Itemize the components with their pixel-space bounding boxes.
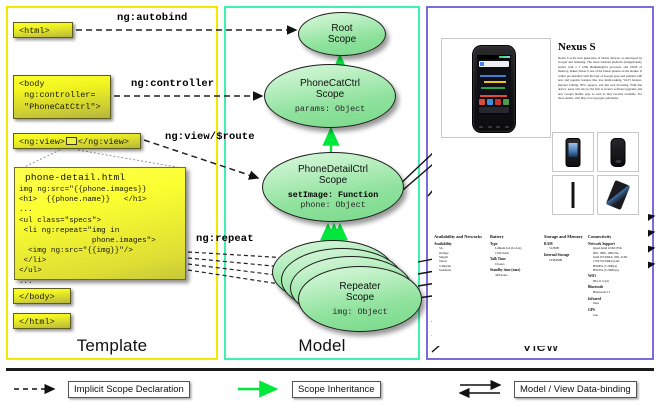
- legend-item-implicit-scope: Implicit Scope Declaration: [10, 378, 190, 400]
- spec-value: 802.11 b/g/n: [588, 279, 648, 283]
- app-icon-4: [503, 99, 509, 105]
- thumbnail-image-icon: [606, 180, 631, 210]
- label-ng-view-route: ng:view/$route: [165, 131, 255, 143]
- phone-wallpaper-line-2: [484, 81, 506, 83]
- scope-repeater-prop-img: img: Object: [332, 307, 387, 317]
- phone-dock: [479, 107, 509, 113]
- diagram-canvas: Template Model View: [0, 0, 660, 420]
- thumbnail-image-icon: [611, 138, 626, 167]
- legend-item-scope-inheritance: Scope Inheritance: [234, 378, 381, 400]
- thumbnail-image-icon: [572, 182, 575, 208]
- spec-heading: Battery: [490, 234, 538, 240]
- spec-column-storage: Storage and Memory RAM 512MB Internal St…: [544, 234, 584, 262]
- search-icon: [480, 62, 484, 66]
- panel-title-model: Model: [226, 336, 418, 356]
- tag-ngview-close: </ng:view>: [78, 137, 129, 147]
- template-note-callout: phone-detail.html img ng:src="{{phone.im…: [14, 167, 186, 280]
- scope-phonecatctrl: PhoneCatCtrl Scope params: Object: [264, 64, 396, 128]
- spec-heading: Availability and Networks: [434, 234, 482, 240]
- spec-value: Bluetooth 2.1: [588, 290, 648, 294]
- spec-value: 6 hours: [490, 262, 538, 266]
- scope-root: Root Scope: [298, 12, 386, 56]
- dashed-arrow-icon: [10, 379, 62, 399]
- thumbnail-phone-side[interactable]: [552, 175, 594, 215]
- phone-device-image: [472, 45, 516, 133]
- scope-repeater-stack: Repeater Scope img: Object: [272, 240, 418, 336]
- spec-value: 512MB: [544, 246, 584, 250]
- spec-column-availability: Availability and Networks Availability 5…: [434, 234, 482, 272]
- note-title: phone-detail.html: [15, 168, 185, 185]
- phone-wallpaper-line-1: [480, 75, 506, 77]
- tag-body-close: </body>: [13, 288, 71, 304]
- thumbnail-grid: [552, 132, 644, 218]
- legend-item-data-binding: Model / View Data-binding: [456, 378, 637, 400]
- scope-repeater-line1: Repeater: [339, 281, 380, 292]
- scope-cat-prop-params: params: Object: [295, 104, 365, 114]
- phone-statusbar: [477, 55, 511, 59]
- phone-wallpaper-line-4: [480, 95, 507, 97]
- phone-button-home: [505, 126, 509, 128]
- spec-column-battery: Battery Type Lithium Ion (Li-Ion) 1500 m…: [490, 234, 538, 277]
- spec-table: Availability and Networks Availability 5…: [432, 234, 648, 326]
- double-arrow-icon: [456, 379, 508, 399]
- legend-divider: [6, 368, 654, 371]
- scope-repeater-line2: Scope: [346, 292, 374, 303]
- scope-phonedetailctrl: PhoneDetailCtrl Scope setImage: Function…: [262, 152, 404, 222]
- app-icon-2: [487, 99, 493, 105]
- scope-cat-line1: PhoneCatCtrl: [300, 78, 360, 89]
- phone-button-search: [496, 126, 500, 128]
- tag-html-close: </html>: [13, 313, 71, 329]
- label-ng-repeat: ng:repeat: [196, 233, 254, 245]
- scope-cat-line2: Scope: [316, 89, 344, 100]
- spec-value: false: [588, 301, 648, 305]
- product-title: Nexus S: [558, 41, 596, 53]
- scope-detail-line2: Scope: [319, 175, 347, 186]
- panel-title-template: Template: [8, 336, 216, 356]
- label-ng-controller: ng:controller: [131, 78, 214, 90]
- tag-ngview-open: <ng:view>: [19, 137, 65, 147]
- app-icon-1: [479, 99, 485, 105]
- scope-detail-line1: PhoneDetailCtrl: [298, 164, 368, 175]
- legend-label: Model / View Data-binding: [514, 381, 637, 398]
- green-arrow-icon: [234, 379, 286, 399]
- spec-heading: Connectivity: [588, 234, 648, 240]
- product-description: Nexus S is the next generation of Nexus …: [558, 56, 642, 122]
- legend-label: Scope Inheritance: [292, 381, 381, 398]
- phone-app-icons: [479, 99, 509, 105]
- spec-value: 428 hours: [490, 273, 538, 277]
- app-icon-3: [495, 99, 501, 105]
- rendered-view-page: Nexus S Nexus S is the next generation o…: [432, 16, 648, 346]
- phone-soft-buttons: [477, 124, 511, 130]
- phone-button-menu: [488, 126, 492, 128]
- tag-html-open: <html>: [13, 22, 73, 38]
- thumbnail-phone-angled[interactable]: [597, 175, 639, 215]
- thumbnail-phone-back[interactable]: [597, 132, 639, 172]
- spec-value: true: [588, 313, 648, 317]
- spec-value: 16384MB: [544, 258, 584, 262]
- phone-hero-image-frame: [441, 38, 551, 138]
- scope-repeater: Repeater Scope img: Object: [298, 266, 422, 332]
- scope-root-line2: Scope: [328, 34, 356, 45]
- tag-body-open: <body ng:controller= "PhoneCatCtrl">: [13, 75, 111, 119]
- legend-label: Implicit Scope Declaration: [68, 381, 190, 398]
- spec-column-connectivity: Connectivity Network Support Quad-band G…: [588, 234, 648, 317]
- scope-detail-prop-phone: phone: Object: [300, 200, 365, 210]
- spec-value: 1500 mAh: [490, 251, 538, 255]
- spec-heading: Storage and Memory: [544, 234, 584, 240]
- label-ng-autobind: ng:autobind: [117, 12, 187, 24]
- phone-button-back: [479, 126, 483, 128]
- phone-search-widget: [479, 61, 509, 67]
- legend: Implicit Scope Declaration Scope Inherit…: [6, 378, 654, 406]
- scope-detail-prop-setimage: setImage: Function: [288, 190, 378, 200]
- placeholder-rect-icon: [66, 137, 77, 145]
- phone-screen: [477, 55, 511, 115]
- spec-value: HSUPA (5.76Mbps): [588, 268, 648, 272]
- spec-value: Vodafone: [434, 268, 482, 272]
- scope-root-line1: Root: [331, 23, 352, 34]
- thumbnail-image-icon: [566, 138, 581, 167]
- thumbnail-phone-front[interactable]: [552, 132, 594, 172]
- phone-wallpaper-line-3: [481, 87, 505, 89]
- tag-ngview: <ng:view></ng:view>: [13, 133, 141, 149]
- note-code: img ng:src="{{phone.images}} <h1> {{phon…: [15, 185, 185, 287]
